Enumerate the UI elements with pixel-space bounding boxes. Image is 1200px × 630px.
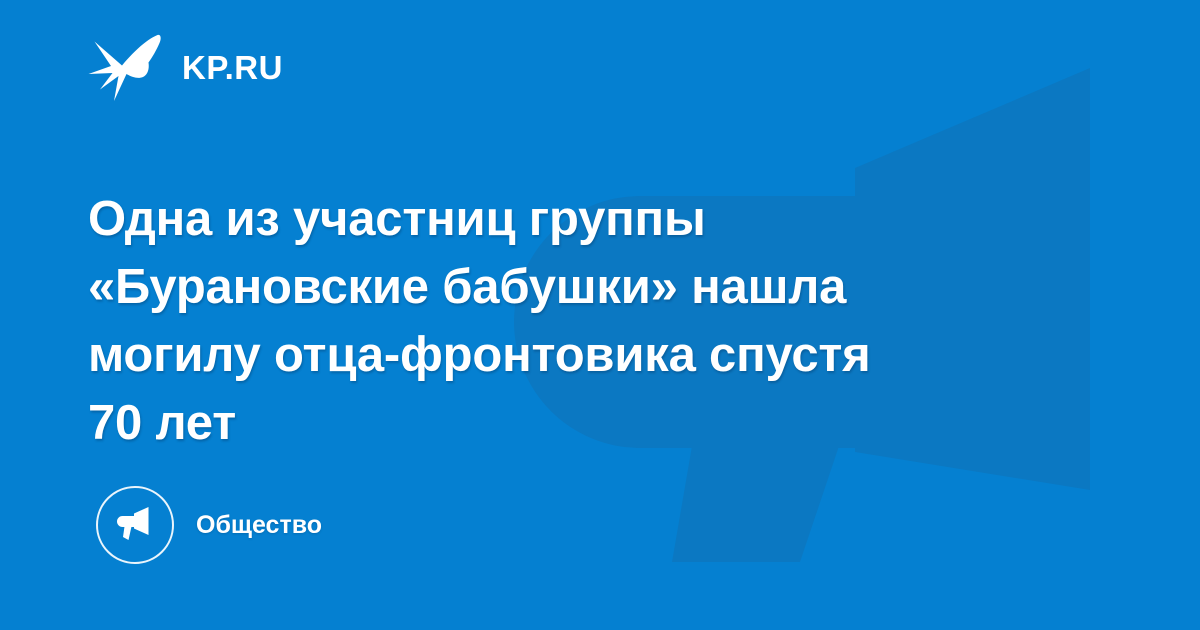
swallow-bird-icon (88, 33, 164, 103)
headline-line-3: могилу отца‑фронтовика спустя (88, 321, 1048, 389)
category-icon-circle (96, 486, 174, 564)
category-tag[interactable]: Общество (96, 486, 322, 564)
megaphone-icon (114, 504, 156, 546)
headline-line-2: «Бурановские бабушки» нашла (88, 253, 1048, 321)
headline-line-1: Одна из участниц группы (88, 185, 1048, 253)
social-share-card: KP.RU Одна из участниц группы «Бурановск… (0, 0, 1200, 630)
headline-line-4: 70 лет (88, 389, 1048, 457)
category-label: Общество (196, 513, 322, 538)
headline: Одна из участниц группы «Бурановские баб… (88, 185, 1048, 457)
brand-wordmark: KP.RU (182, 51, 283, 86)
brand-logo[interactable]: KP.RU (88, 33, 283, 103)
